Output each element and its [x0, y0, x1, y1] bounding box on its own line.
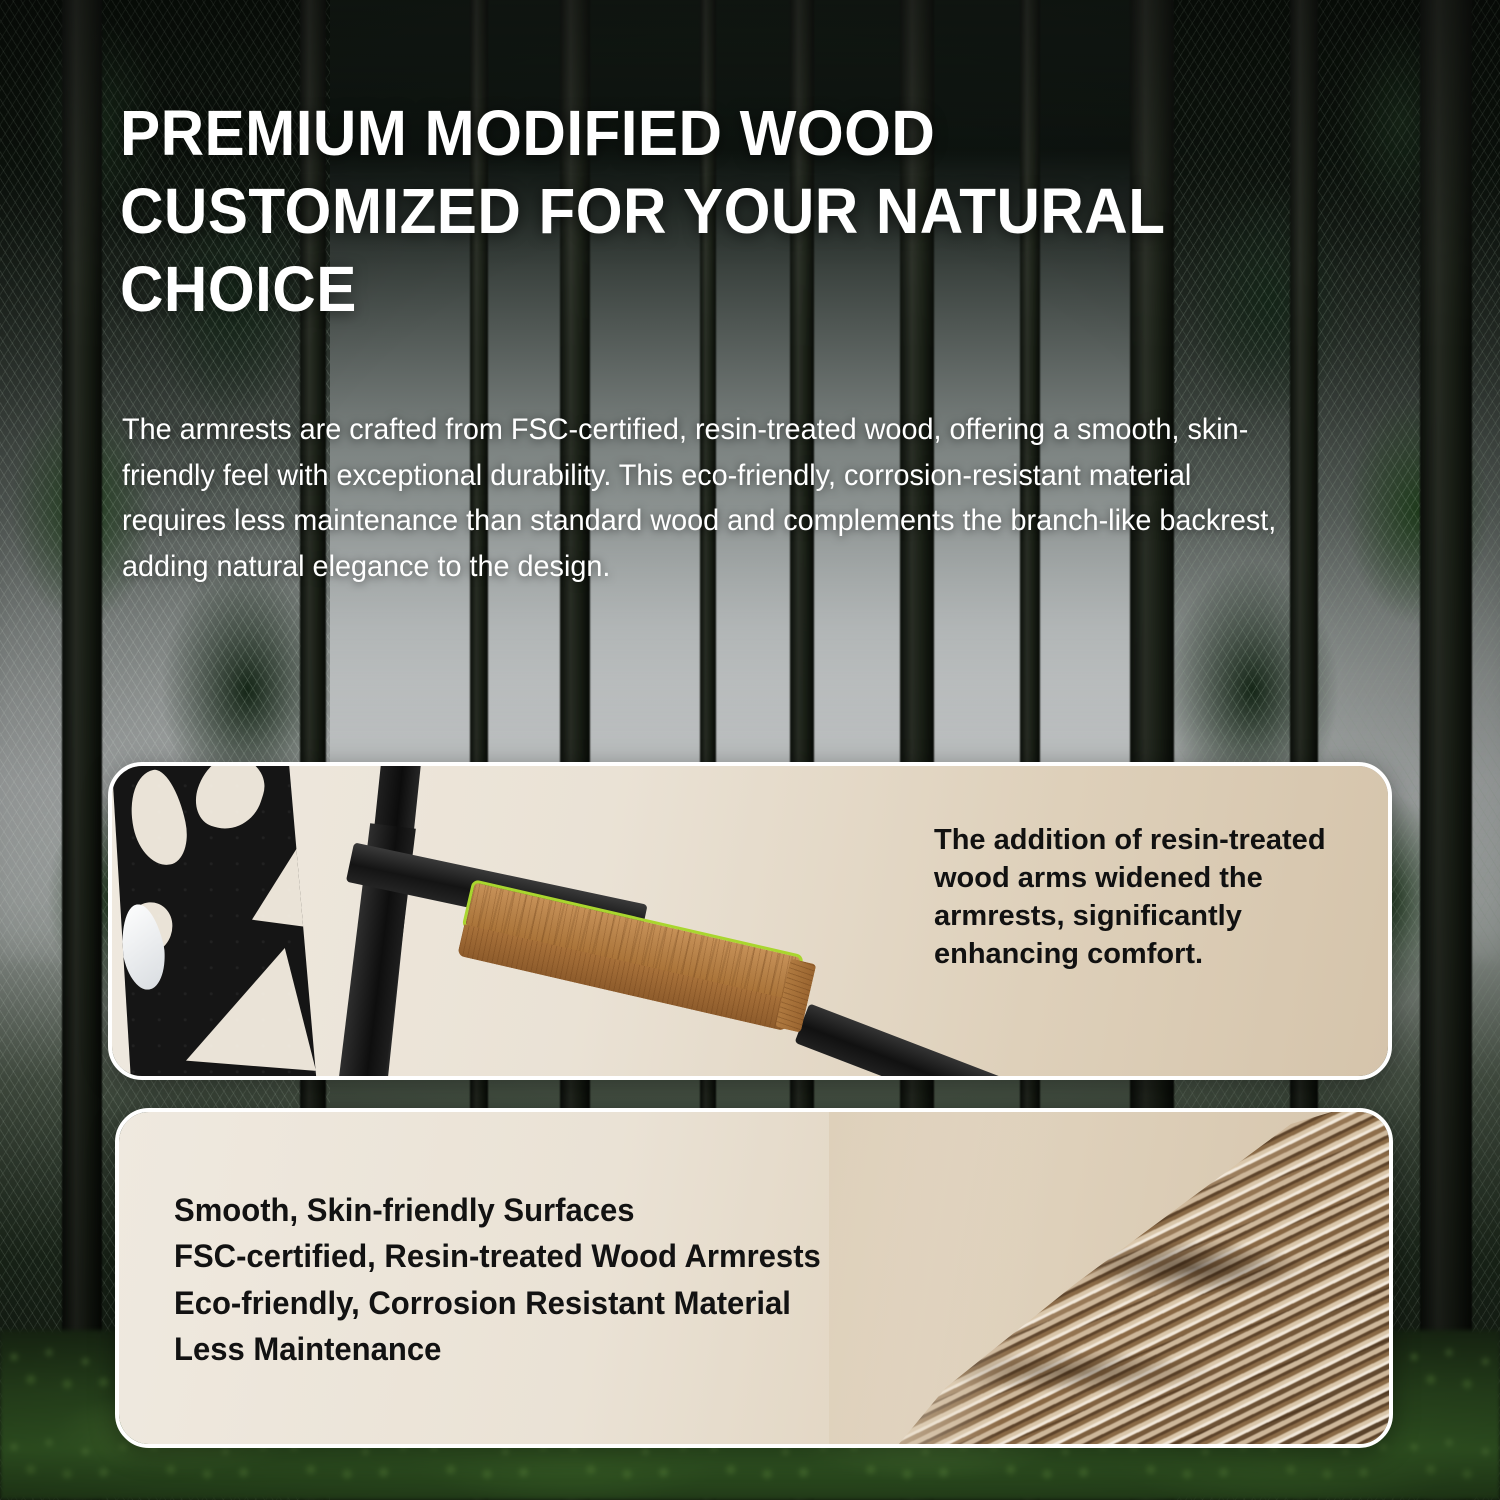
feature-summary-card: Smooth, Skin-friendly Surfaces FSC-certi…	[115, 1108, 1393, 1448]
backrest-cutout	[118, 896, 179, 961]
backrest-cutout	[186, 948, 316, 1076]
page-title: PREMIUM MODIFIED WOOD CUSTOMIZED FOR YOU…	[120, 94, 1173, 328]
body-description: The armrests are crafted from FSC-certif…	[122, 407, 1303, 589]
list-item: FSC-certified, Resin-treated Wood Armres…	[174, 1233, 950, 1279]
product-detail-card: The addition of resin-treated wood arms …	[108, 762, 1392, 1080]
list-item: Eco-friendly, Corrosion Resistant Materi…	[174, 1280, 950, 1326]
backrest-cutout	[123, 766, 194, 871]
armrest-callout-text: The addition of resin-treated wood arms …	[934, 822, 1392, 974]
list-item: Less Maintenance	[174, 1326, 950, 1372]
teardrop-highlight	[116, 901, 170, 992]
backrest-cutout	[252, 822, 370, 954]
backrest-cutout	[188, 762, 272, 838]
arm-frame-lower	[794, 1003, 1052, 1080]
list-item: Smooth, Skin-friendly Surfaces	[174, 1187, 950, 1233]
feature-list: Smooth, Skin-friendly Surfaces FSC-certi…	[174, 1187, 950, 1373]
